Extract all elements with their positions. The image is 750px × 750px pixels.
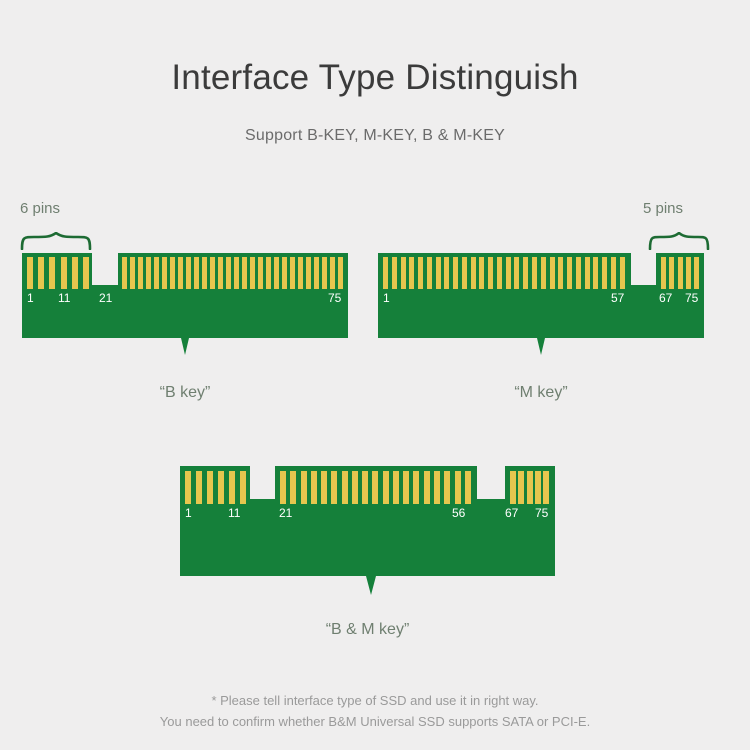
alignment-notch-bm-key bbox=[355, 575, 387, 596]
footer-line-1: * Please tell interface type of SSD and … bbox=[0, 690, 750, 711]
brace-icon-m-key bbox=[648, 232, 710, 250]
caption-bm-key: “B & M key” bbox=[180, 621, 555, 639]
pin-label-67-bm-key: 67 bbox=[505, 507, 518, 519]
pin-label-75-m-key: 75 bbox=[685, 292, 698, 304]
pin-label-1-bm-key: 1 bbox=[185, 507, 192, 519]
pin-label-56-bm-key: 56 bbox=[452, 507, 465, 519]
pin-label-67-m-key: 67 bbox=[659, 292, 672, 304]
key-notch-b-bm bbox=[250, 466, 275, 499]
callout-label-m-key: 5 pins bbox=[643, 200, 683, 217]
pin-group-left-bm-key bbox=[185, 471, 246, 504]
key-notch-m bbox=[631, 253, 656, 285]
pin-group-left-b-key bbox=[27, 257, 89, 289]
pin-group-right-bm-key bbox=[510, 471, 549, 504]
board-m-key: 1 57 67 75 bbox=[378, 253, 704, 338]
page-subtitle: Support B-KEY, M-KEY, B & M-KEY bbox=[0, 127, 750, 145]
pin-label-11-bm-key: 11 bbox=[228, 507, 240, 519]
pin-label-1-b-key: 1 bbox=[27, 292, 34, 304]
pin-label-21-bm-key: 21 bbox=[279, 507, 292, 519]
alignment-notch-b-key bbox=[170, 337, 200, 356]
footer-note: * Please tell interface type of SSD and … bbox=[0, 690, 750, 732]
pin-label-75-b-key: 75 bbox=[328, 292, 341, 304]
callout-label-b-key: 6 pins bbox=[20, 200, 60, 217]
pin-label-57-m-key: 57 bbox=[611, 292, 624, 304]
pin-group-left-m-key bbox=[383, 257, 625, 289]
board-b-key: 1 11 21 75 bbox=[22, 253, 348, 338]
diagram-canvas: Interface Type Distinguish Support B-KEY… bbox=[0, 0, 750, 750]
key-notch-b bbox=[92, 253, 118, 285]
brace-icon-b-key bbox=[20, 232, 92, 250]
board-bm-key: 1 11 21 56 67 75 bbox=[180, 466, 555, 576]
page-title: Interface Type Distinguish bbox=[0, 58, 750, 98]
pin-label-11-b-key: 11 bbox=[58, 292, 70, 304]
pin-label-75-bm-key: 75 bbox=[535, 507, 548, 519]
caption-m-key: “M key” bbox=[378, 384, 704, 402]
key-notch-m-bm bbox=[477, 466, 505, 499]
footer-line-2: You need to confirm whether B&M Universa… bbox=[0, 711, 750, 732]
caption-b-key: “B key” bbox=[22, 384, 348, 402]
pin-group-right-m-key bbox=[661, 257, 699, 289]
pin-group-right-b-key bbox=[122, 257, 343, 289]
pin-label-21-b-key: 21 bbox=[99, 292, 112, 304]
alignment-notch-m-key bbox=[526, 337, 556, 356]
pin-label-1-m-key: 1 bbox=[383, 292, 390, 304]
pin-group-middle-bm-key bbox=[280, 471, 471, 504]
